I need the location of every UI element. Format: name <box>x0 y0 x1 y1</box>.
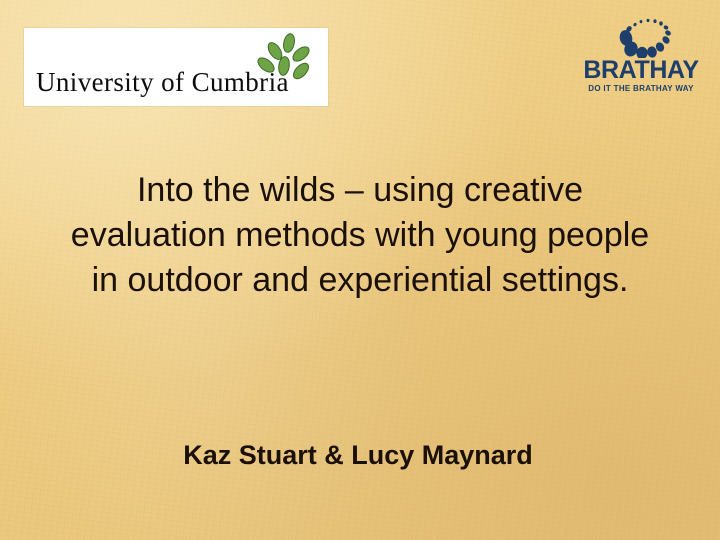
cumbria-wordmark-text: University of Cumbria <box>36 67 289 98</box>
slide-title: Into the wilds – using creative evaluati… <box>60 168 660 303</box>
brathay-tagline-text: DO IT THE BRATHAY WAY <box>577 85 705 93</box>
brathay-wordmark-text: BRATHAY <box>577 58 705 83</box>
university-of-cumbria-logo: University of Cumbria <box>24 28 328 106</box>
presentation-slide: University of Cumbria BRATHAY DO <box>0 0 720 540</box>
brathay-pebble-ring-icon <box>615 18 677 58</box>
slide-authors: Kaz Stuart & Lucy Maynard <box>58 438 658 472</box>
brathay-logo: BRATHAY DO IT THE BRATHAY WAY <box>577 18 705 104</box>
